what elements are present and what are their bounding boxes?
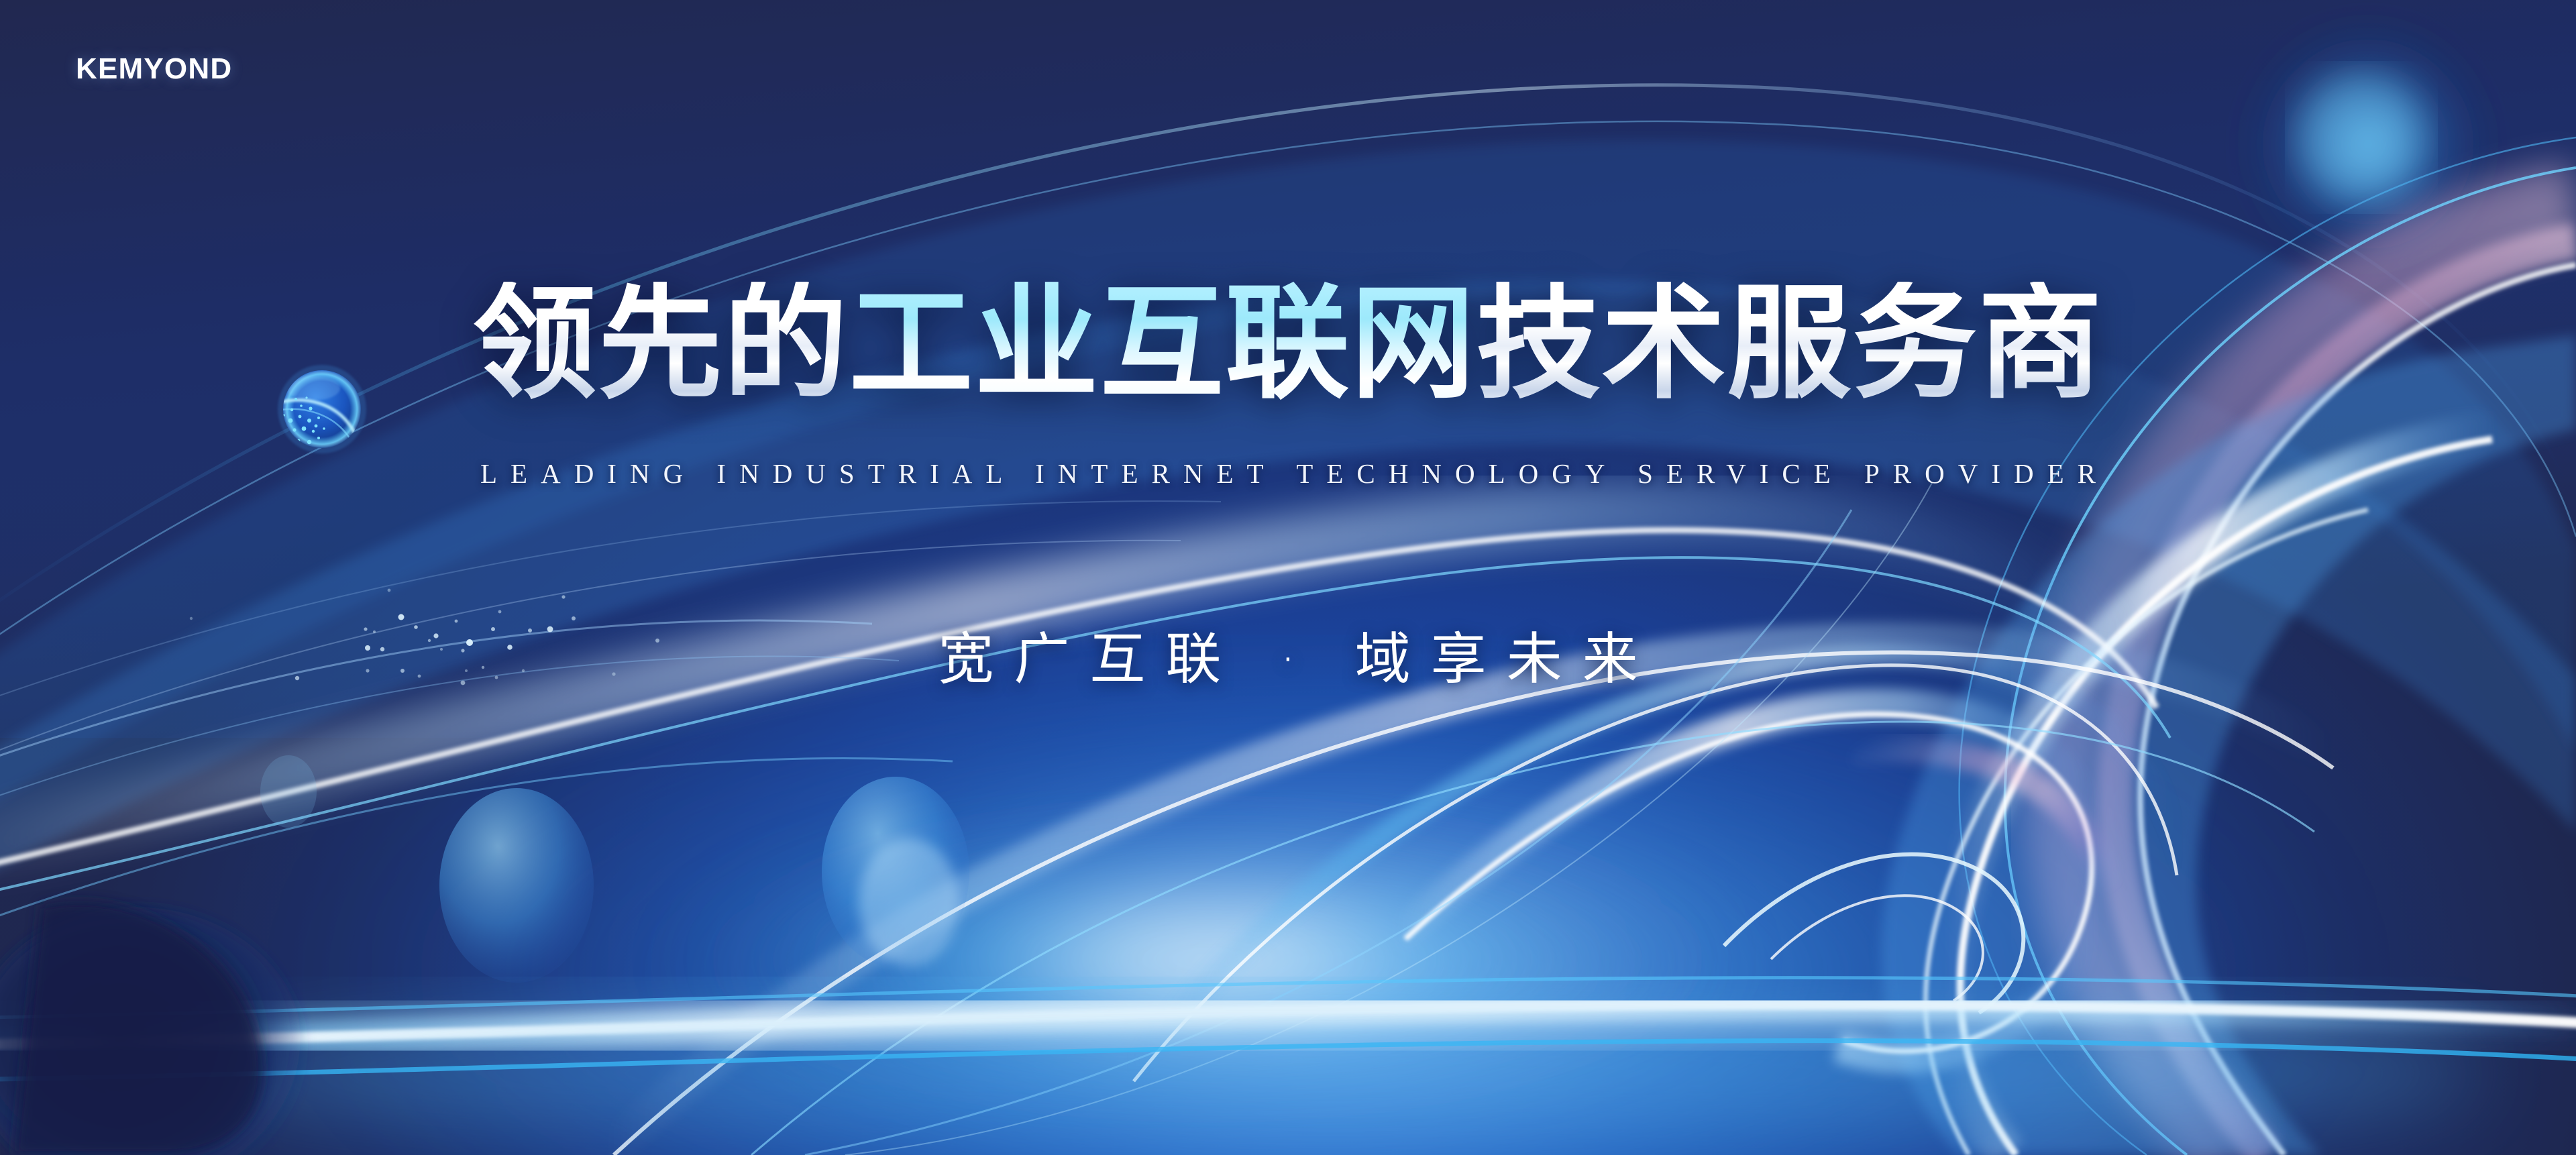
headline-part-3: 技术服务商 bbox=[1477, 282, 2104, 406]
promo-banner: KEMYOND 领先的工业互联网技术服务商 LEADING INDUSTRIAL… bbox=[0, 0, 2576, 1155]
globe-sphere-icon bbox=[272, 359, 372, 459]
bubble-medium bbox=[822, 777, 969, 967]
light-streak bbox=[0, 978, 2576, 1154]
bubble-large bbox=[439, 788, 594, 983]
brand-logo: KEMYOND bbox=[76, 52, 232, 86]
page-tagline: 宽广互联 · 域享未来 bbox=[0, 614, 2576, 694]
page-subtitle: LEADING INDUSTRIAL INTERNET TECHNOLOGY S… bbox=[0, 457, 2576, 490]
headline-part-1: 领先的 bbox=[473, 282, 849, 406]
headline-part-2: 工业互联网 bbox=[849, 282, 1477, 406]
page-title: 领先的工业互联网技术服务商 bbox=[0, 282, 2576, 406]
swirl-ribbons bbox=[0, 0, 2576, 1155]
